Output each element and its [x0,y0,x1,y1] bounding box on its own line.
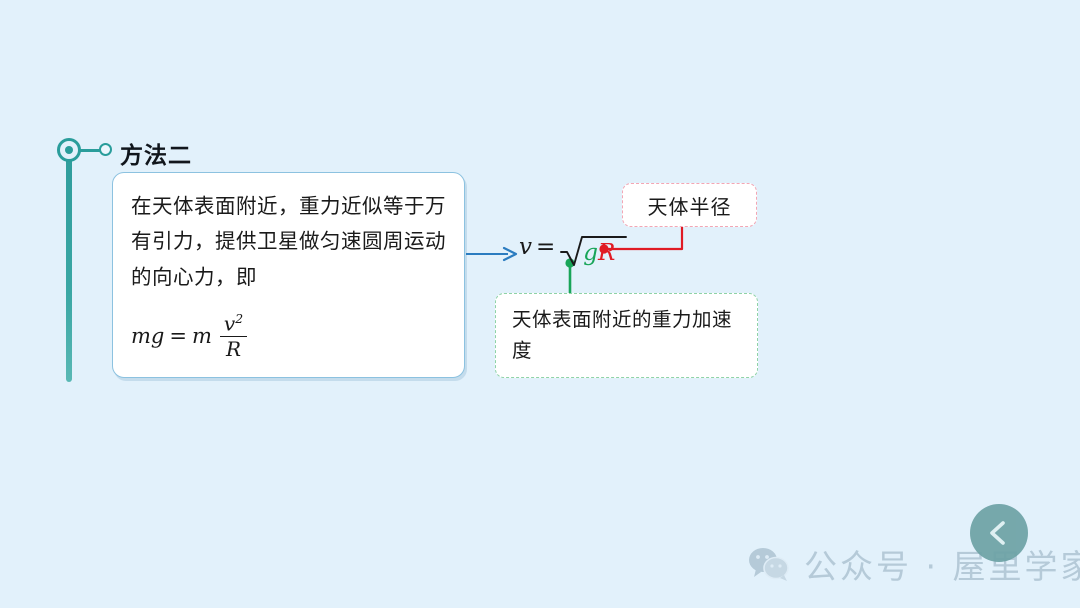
formula-lhs: mg [131,324,164,348]
slide-canvas: 方法二 在天体表面附近，重力近似等于万有引力，提供卫星做匀速圆周运动的向心力，即… [0,0,1080,608]
method-description-card: 在天体表面附近，重力近似等于万有引力，提供卫星做匀速圆周运动的向心力，即 mg … [112,172,465,378]
radicand: gR [583,240,619,266]
page-title: 方法二 [120,136,192,170]
result-variable: v [519,234,532,260]
formula-fraction: v2 R [220,313,247,359]
timeline-stem [66,158,72,382]
radicand-R: R [598,240,615,266]
watermark: 公众号 · 屋里学家 [748,540,1080,588]
wechat-icon [748,546,790,582]
node-small-circle [99,143,112,156]
fraction-exponent: 2 [235,311,243,326]
method-description-text: 在天体表面附近，重力近似等于万有引力，提供卫星做匀速圆周运动的向心力，即 [131,189,452,295]
radicand-g: g [583,240,598,266]
chevron-left-icon [984,518,1014,548]
formula-equals: = [169,324,187,348]
fraction-numerator: v2 [220,313,247,336]
back-button[interactable] [970,504,1028,562]
formula-mass: m [192,324,212,348]
implies-arrow-icon [466,246,518,262]
source-formula: mg = m v2 R [131,313,247,359]
method-node-center [65,146,73,154]
callout-gravity-label: 天体表面附近的重力加速度 [512,304,747,366]
result-equals: = [536,234,555,260]
square-root-icon: gR [560,234,628,268]
watermark-text: 公众号 · 屋里学家 [804,540,1080,588]
callout-gravity-acceleration: 天体表面附近的重力加速度 [495,293,758,378]
result-formula: v = gR [519,234,628,268]
fraction-denominator: R [222,337,245,359]
callout-radius: 天体半径 [622,183,757,227]
callout-radius-label: 天体半径 [648,191,732,220]
